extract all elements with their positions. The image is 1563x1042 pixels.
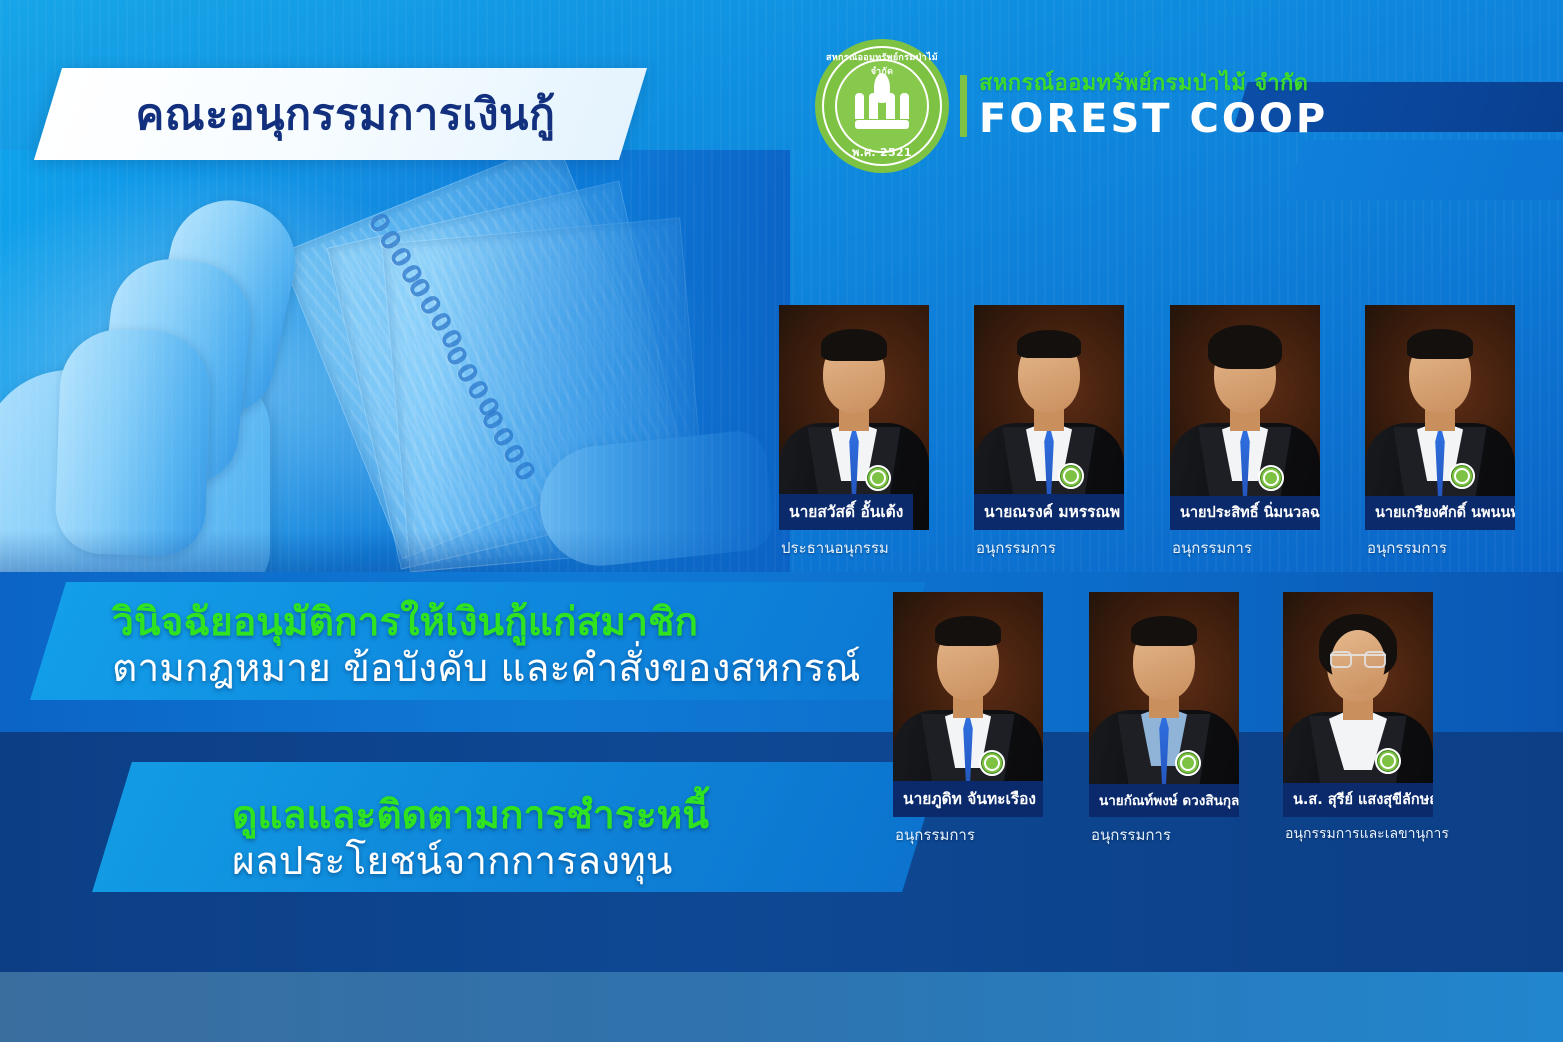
member-photo-1: นายสวัสดิ์ อั้นเต้ง bbox=[779, 305, 929, 530]
member-card-1: นายสวัสดิ์ อั้นเต้ง ประธานอนุกรรม bbox=[779, 305, 929, 530]
poster-canvas: 0000 0000 0000 0000 คณะอนุกรรมการเงินกู้… bbox=[0, 0, 1563, 1042]
member-name-bar-3: นายประสิทธิ์ นิ่มนวลฉวี bbox=[1170, 496, 1320, 530]
member-role-3: อนุกรรมการ bbox=[1172, 536, 1252, 560]
member-name-3: นายประสิทธิ์ นิ่มนวลฉวี bbox=[1180, 501, 1310, 524]
member-role-5: อนุกรรมการ bbox=[895, 823, 975, 847]
coop-lapel-badge-icon bbox=[979, 750, 1005, 776]
member-name-bar-5: นายภูดิท จันทะเรือง bbox=[893, 781, 1043, 817]
member-name-bar-6: นายกัณท์พงษ์ ดวงสินกุลศักดิ์ bbox=[1089, 784, 1239, 817]
member-name-1: นายสวัสดิ์ อั้นเต้ง bbox=[789, 499, 903, 524]
member-card-3: นายประสิทธิ์ นิ่มนวลฉวี อนุกรรมการ bbox=[1170, 305, 1320, 530]
member-name-5: นายภูดิท จันทะเรือง bbox=[903, 786, 1033, 811]
member-card-2: นายณรงค์ มหรรณพ อนุกรรมการ bbox=[974, 305, 1124, 530]
coop-lapel-badge-icon bbox=[1058, 463, 1084, 489]
member-name-bar-2: นายณรงค์ มหรรณพ bbox=[974, 494, 1124, 530]
member-card-4: นายเกรียงศักดิ์ นพนนท์ อนุกรรมการ bbox=[1365, 305, 1515, 530]
member-card-6: นายกัณท์พงษ์ ดวงสินกุลศักดิ์ อนุกรรมการ bbox=[1089, 592, 1239, 817]
member-photo-3: นายประสิทธิ์ นิ่มนวลฉวี bbox=[1170, 305, 1320, 530]
member-name-4: นายเกรียงศักดิ์ นพนนท์ bbox=[1375, 501, 1505, 524]
lens-left bbox=[1330, 651, 1352, 668]
coop-lapel-badge-icon bbox=[1449, 463, 1475, 489]
member-photo-7: น.ส. สุรีย์ แสงสุขีลักษณ์ bbox=[1283, 592, 1433, 817]
member-name-6: นายกัณท์พงษ์ ดวงสินกุลศักดิ์ bbox=[1099, 789, 1229, 811]
member-role-1: ประธานอนุกรรม bbox=[781, 536, 889, 560]
member-photo-2: นายณรงค์ มหรรณพ bbox=[974, 305, 1124, 530]
member-name-bar-4: นายเกรียงศักดิ์ นพนนท์ bbox=[1365, 496, 1515, 530]
member-photo-4: นายเกรียงศักดิ์ นพนนท์ bbox=[1365, 305, 1515, 530]
member-name-bar-7: น.ส. สุรีย์ แสงสุขีลักษณ์ bbox=[1283, 783, 1433, 817]
member-name-7: น.ส. สุรีย์ แสงสุขีลักษณ์ bbox=[1293, 788, 1423, 811]
coop-lapel-badge-icon bbox=[1258, 465, 1284, 491]
hair bbox=[1407, 329, 1473, 359]
member-card-5: นายภูดิท จันทะเรือง อนุกรรมการ bbox=[893, 592, 1043, 817]
hair bbox=[1208, 325, 1282, 369]
coop-lapel-badge-icon bbox=[1175, 750, 1201, 776]
lens-right bbox=[1364, 651, 1386, 668]
member-photo-5: นายภูดิท จันทะเรือง bbox=[893, 592, 1043, 817]
hair bbox=[1017, 330, 1081, 358]
member-name-bar-1: นายสวัสดิ์ อั้นเต้ง bbox=[779, 494, 913, 530]
member-role-7: อนุกรรมการและเลขานุการ bbox=[1285, 823, 1449, 845]
member-role-6: อนุกรรมการ bbox=[1091, 823, 1171, 847]
hair bbox=[1131, 616, 1197, 646]
member-name-2: นายณรงค์ มหรรณพ bbox=[984, 499, 1114, 524]
hair bbox=[935, 616, 1001, 646]
member-photo-6: นายกัณท์พงษ์ ดวงสินกุลศักดิ์ bbox=[1089, 592, 1239, 817]
member-card-7: น.ส. สุรีย์ แสงสุขีลักษณ์ อนุกรรมการและเ… bbox=[1283, 592, 1433, 817]
coop-lapel-badge-icon bbox=[1375, 748, 1401, 774]
hair bbox=[821, 329, 887, 361]
coop-lapel-badge-icon bbox=[865, 465, 891, 491]
committee-member-grid: นายสวัสดิ์ อั้นเต้ง ประธานอนุกรรม นายณรง… bbox=[0, 0, 1563, 1042]
member-role-4: อนุกรรมการ bbox=[1367, 536, 1447, 560]
member-role-2: อนุกรรมการ bbox=[976, 536, 1056, 560]
eyeglasses-icon bbox=[1330, 654, 1386, 669]
